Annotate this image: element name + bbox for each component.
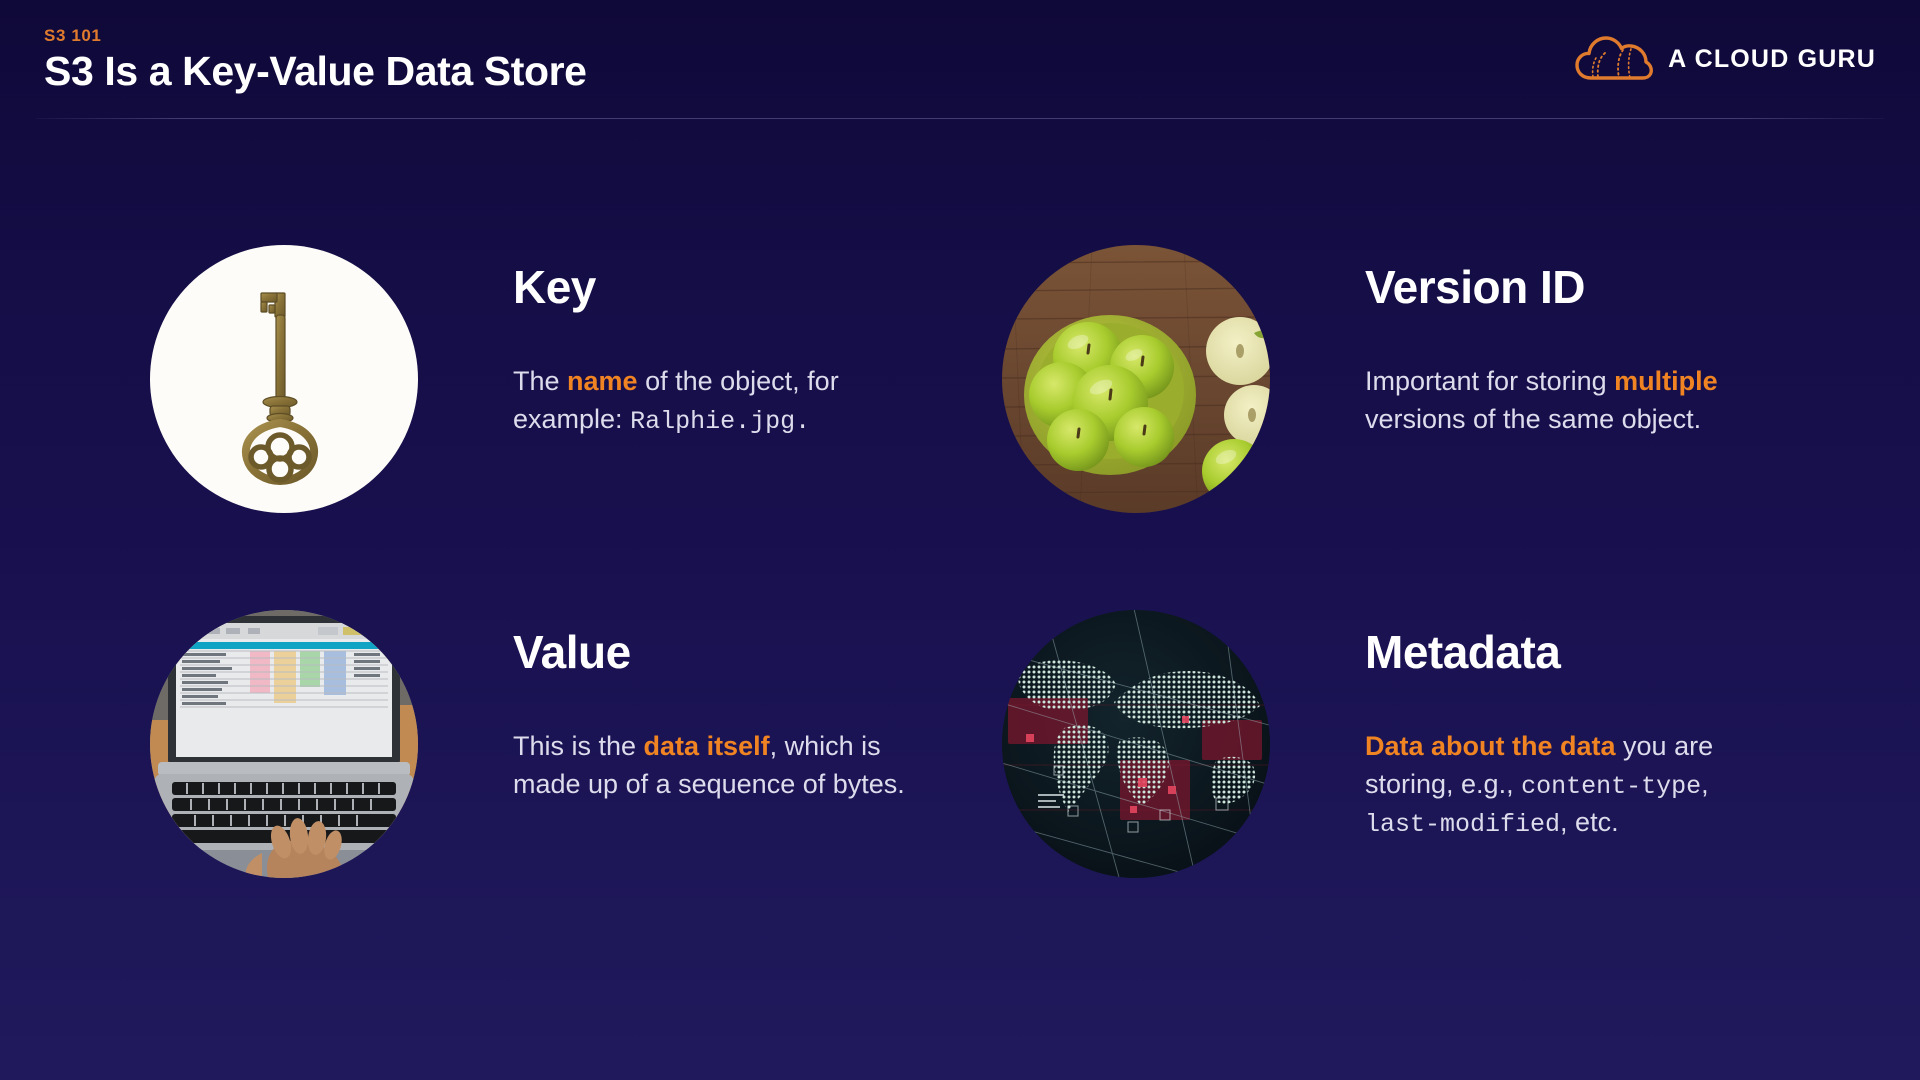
body-tail: , etc.: [1560, 807, 1619, 837]
card-value: Value This is the data itself, which is …: [150, 610, 933, 878]
course-eyebrow-label: S3 101: [44, 26, 101, 46]
card-metadata-copy: Metadata Data about the data you are sto…: [1365, 610, 1785, 842]
body-code: content-type: [1521, 772, 1701, 801]
card-body: The name of the object, for example: Ral…: [513, 363, 933, 439]
card-key-copy: Key The name of the object, for example:…: [513, 245, 933, 439]
slide-root: S3 101 S3 Is a Key-Value Data Store A CL…: [0, 0, 1920, 1080]
digital-world-map-photo: [1002, 610, 1270, 878]
laptop-spreadsheet-photo: [150, 610, 418, 878]
body-lead: Important for storing: [1365, 366, 1614, 396]
card-body: This is the data itself, which is made u…: [513, 728, 933, 804]
card-title: Value: [513, 628, 933, 676]
page-title: S3 Is a Key-Value Data Store: [44, 48, 587, 95]
body-highlight: Data about the data: [1365, 731, 1616, 761]
body-highlight: multiple: [1614, 366, 1718, 396]
body-mid: versions of the same object.: [1365, 404, 1701, 434]
slide-header: S3 101 S3 Is a Key-Value Data Store A CL…: [0, 0, 1920, 120]
card-version-id: Version ID Important for storing multipl…: [1002, 245, 1785, 513]
card-key: Key The name of the object, for example:…: [150, 245, 933, 513]
card-body: Data about the data you are storing, e.g…: [1365, 728, 1785, 842]
brand-logo: A CLOUD GURU: [1575, 36, 1876, 82]
card-title: Metadata: [1365, 628, 1785, 676]
card-version-id-copy: Version ID Important for storing multipl…: [1365, 245, 1785, 439]
card-body: Important for storing multiple versions …: [1365, 363, 1785, 439]
body-code: Ralphie.jpg: [630, 407, 795, 436]
body-code-sep: ,: [1701, 769, 1709, 799]
body-tail: .: [795, 407, 810, 436]
body-highlight: data itself: [644, 731, 770, 761]
card-title: Version ID: [1365, 263, 1785, 311]
body-code-2: last-modified: [1365, 810, 1560, 839]
cloud-icon: [1575, 36, 1653, 82]
card-title: Key: [513, 263, 933, 311]
card-value-copy: Value This is the data itself, which is …: [513, 610, 933, 804]
card-metadata: Metadata Data about the data you are sto…: [1002, 610, 1785, 878]
body-lead: The: [513, 366, 567, 396]
body-highlight: name: [567, 366, 638, 396]
green-apples-photo: [1002, 245, 1270, 513]
body-lead: This is the: [513, 731, 644, 761]
antique-key-photo: [150, 245, 418, 513]
header-divider: [36, 118, 1884, 119]
brand-name-label: A CLOUD GURU: [1668, 45, 1876, 74]
